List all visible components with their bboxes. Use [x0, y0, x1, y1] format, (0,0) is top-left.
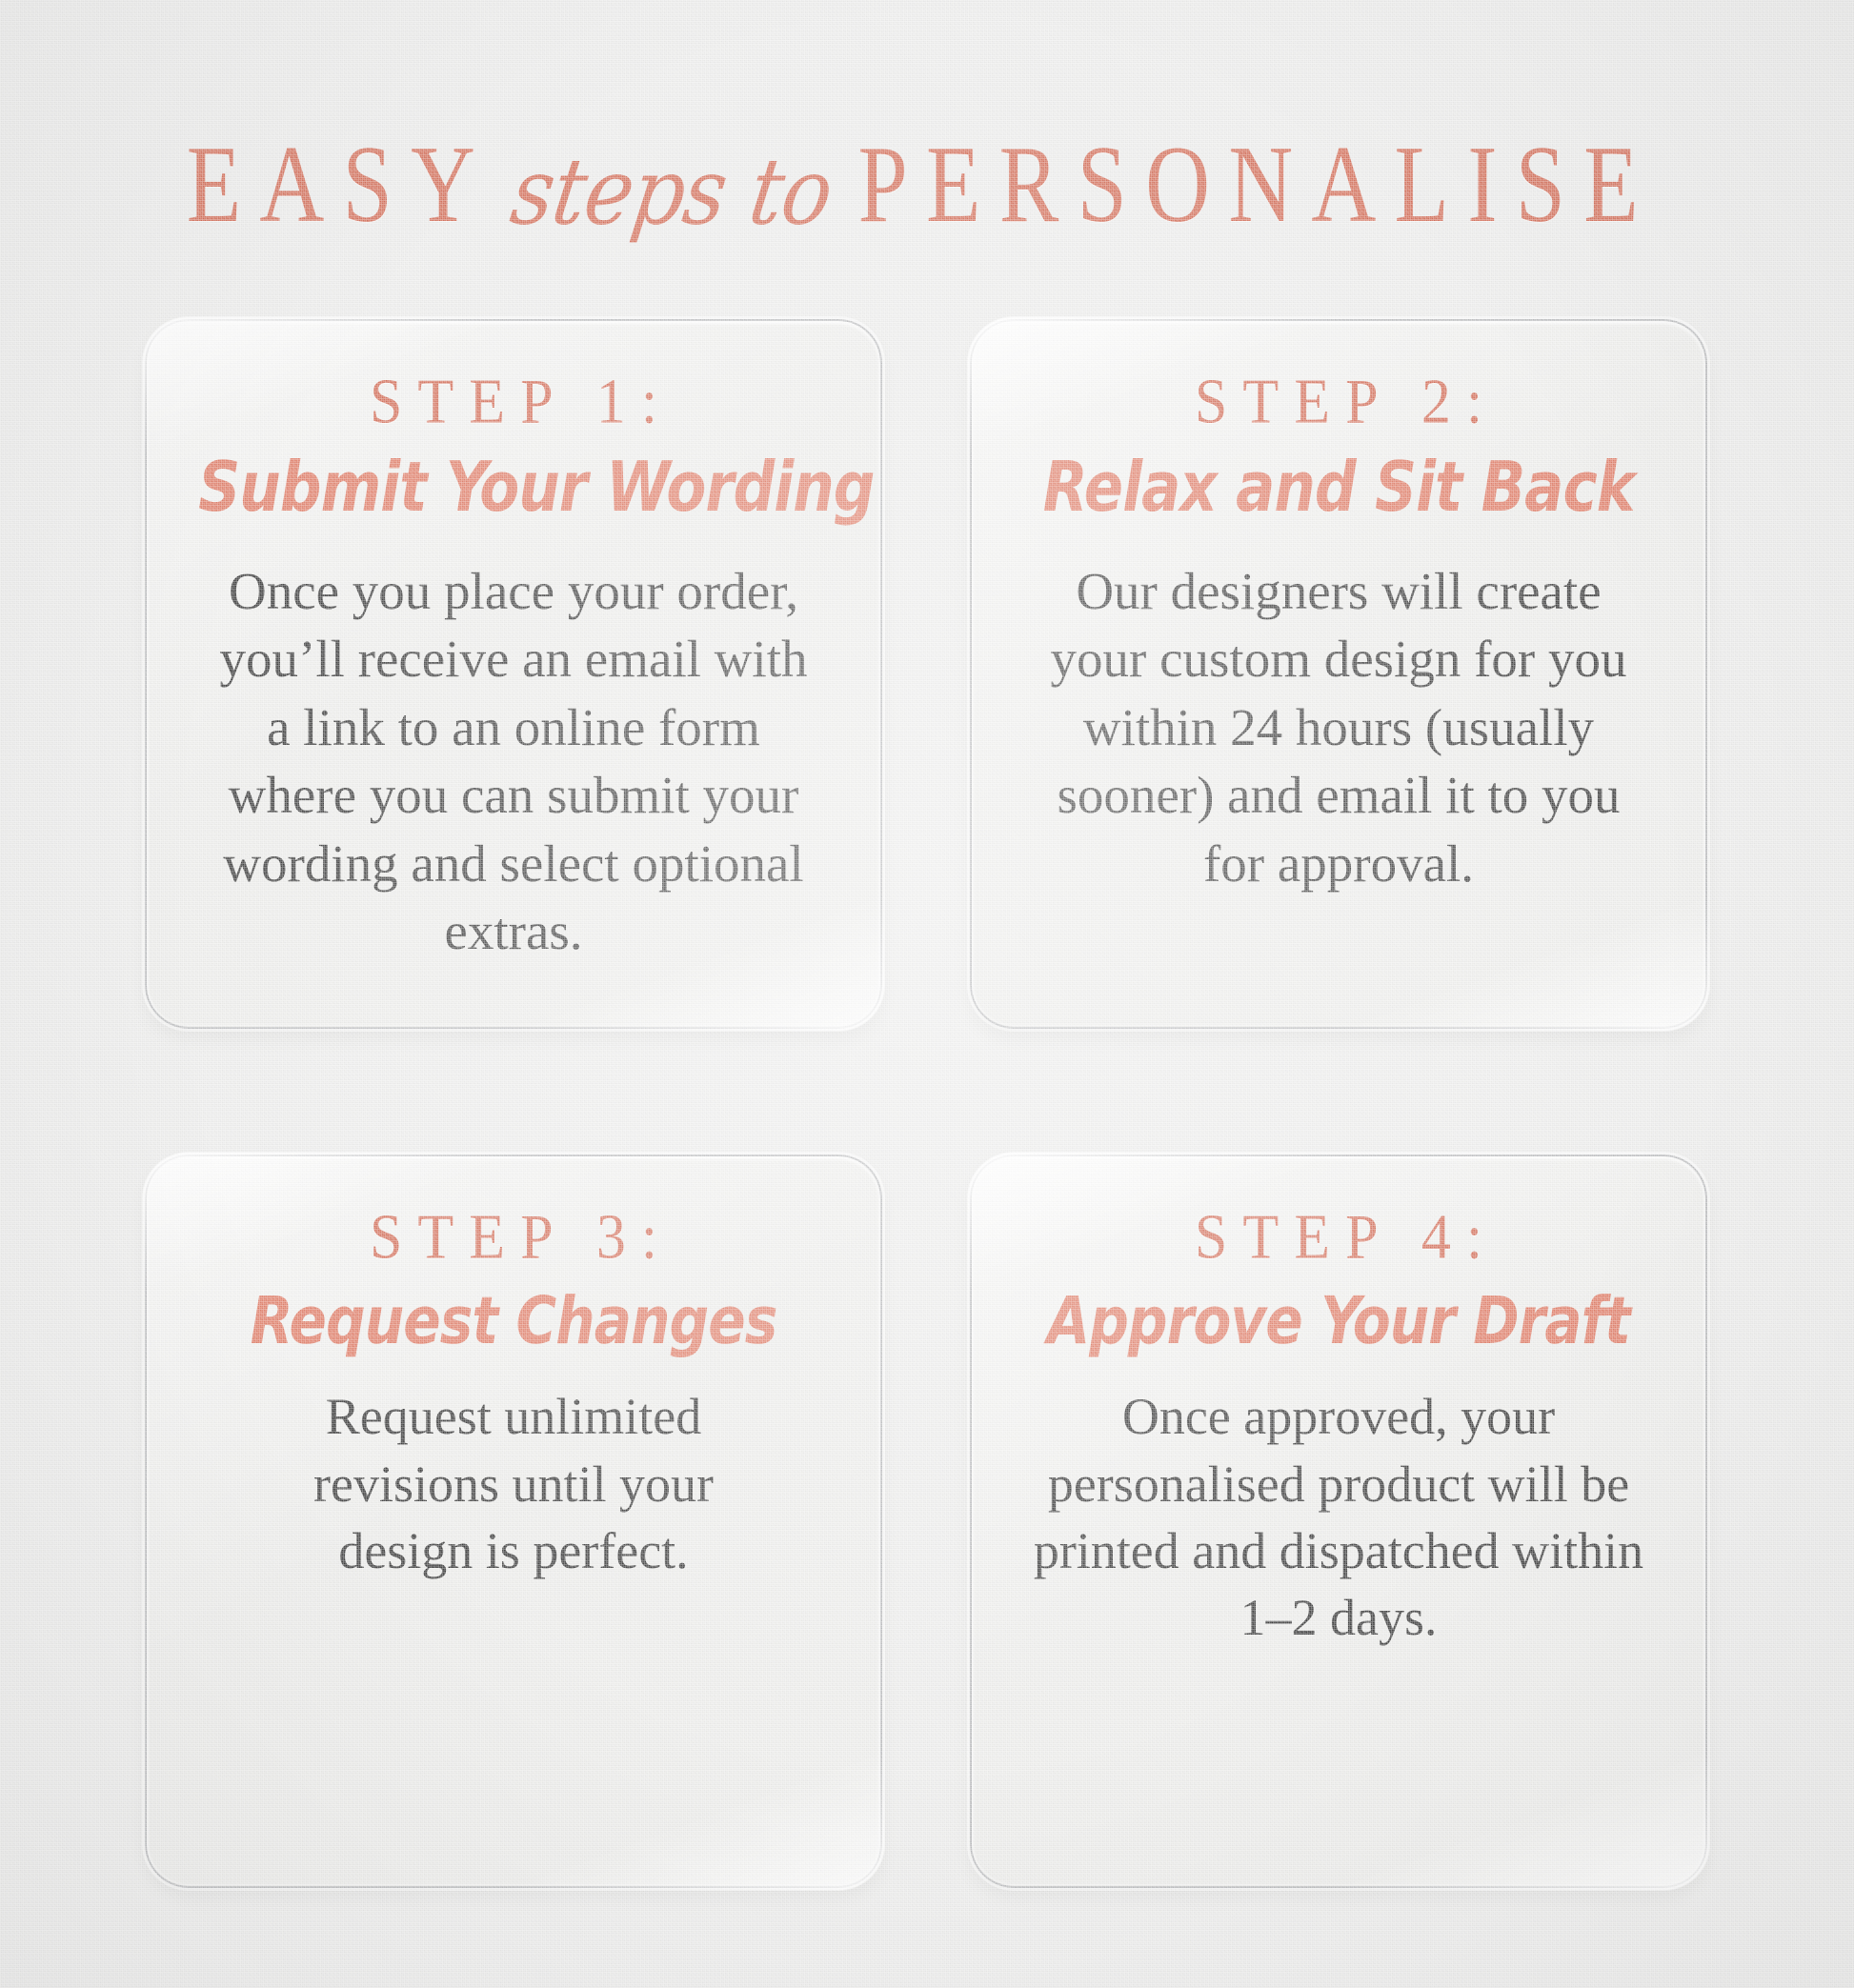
step-card-4: STEP 4: Approve Your Draft Once approved… — [970, 1155, 1707, 1888]
infographic-page: EASY steps to PERSONALISE STEP 1: Submit… — [0, 0, 1854, 1988]
step-3-body: Request unlimited revisions until your d… — [247, 1383, 780, 1584]
step-1-body: Once you place your order, you’ll receiv… — [204, 557, 823, 966]
step-card-2-content: STEP 2: Relax and Sit Back Our designers… — [1014, 372, 1663, 897]
step-card-3-content: STEP 3: Request Changes Request unlimite… — [189, 1208, 838, 1584]
step-4-body: Once approved, your personalised product… — [1015, 1383, 1663, 1651]
step-4-title: Approve Your Draft — [1023, 1288, 1654, 1355]
title-word-easy: EASY — [187, 130, 494, 240]
step-2-title: Relax and Sit Back — [1023, 452, 1654, 523]
step-1-label: STEP 1: — [189, 371, 838, 434]
page-title: EASY steps to PERSONALISE — [0, 131, 1854, 255]
step-card-1: STEP 1: Submit Your Wording Once you pla… — [145, 319, 882, 1029]
title-script-steps-to: steps to — [506, 147, 837, 238]
step-card-2: STEP 2: Relax and Sit Back Our designers… — [970, 319, 1707, 1029]
step-4-label: STEP 4: — [1014, 1206, 1663, 1270]
steps-row-top: STEP 1: Submit Your Wording Once you pla… — [145, 319, 1707, 1029]
step-3-title: Request Changes — [198, 1288, 829, 1355]
step-2-body: Our designers will create your custom de… — [1029, 557, 1648, 898]
step-2-label: STEP 2: — [1014, 371, 1663, 434]
step-1-title: Submit Your Wording — [198, 452, 829, 523]
step-3-label: STEP 3: — [189, 1206, 838, 1270]
row-spacer — [145, 1029, 1707, 1155]
steps-row-bottom: STEP 3: Request Changes Request unlimite… — [145, 1155, 1707, 1888]
step-card-1-content: STEP 1: Submit Your Wording Once you pla… — [189, 372, 838, 966]
step-card-4-content: STEP 4: Approve Your Draft Once approved… — [1014, 1208, 1663, 1651]
title-word-personalise: PERSONALISE — [858, 130, 1657, 240]
steps-grid: STEP 1: Submit Your Wording Once you pla… — [145, 319, 1707, 1888]
step-card-3: STEP 3: Request Changes Request unlimite… — [145, 1155, 882, 1888]
